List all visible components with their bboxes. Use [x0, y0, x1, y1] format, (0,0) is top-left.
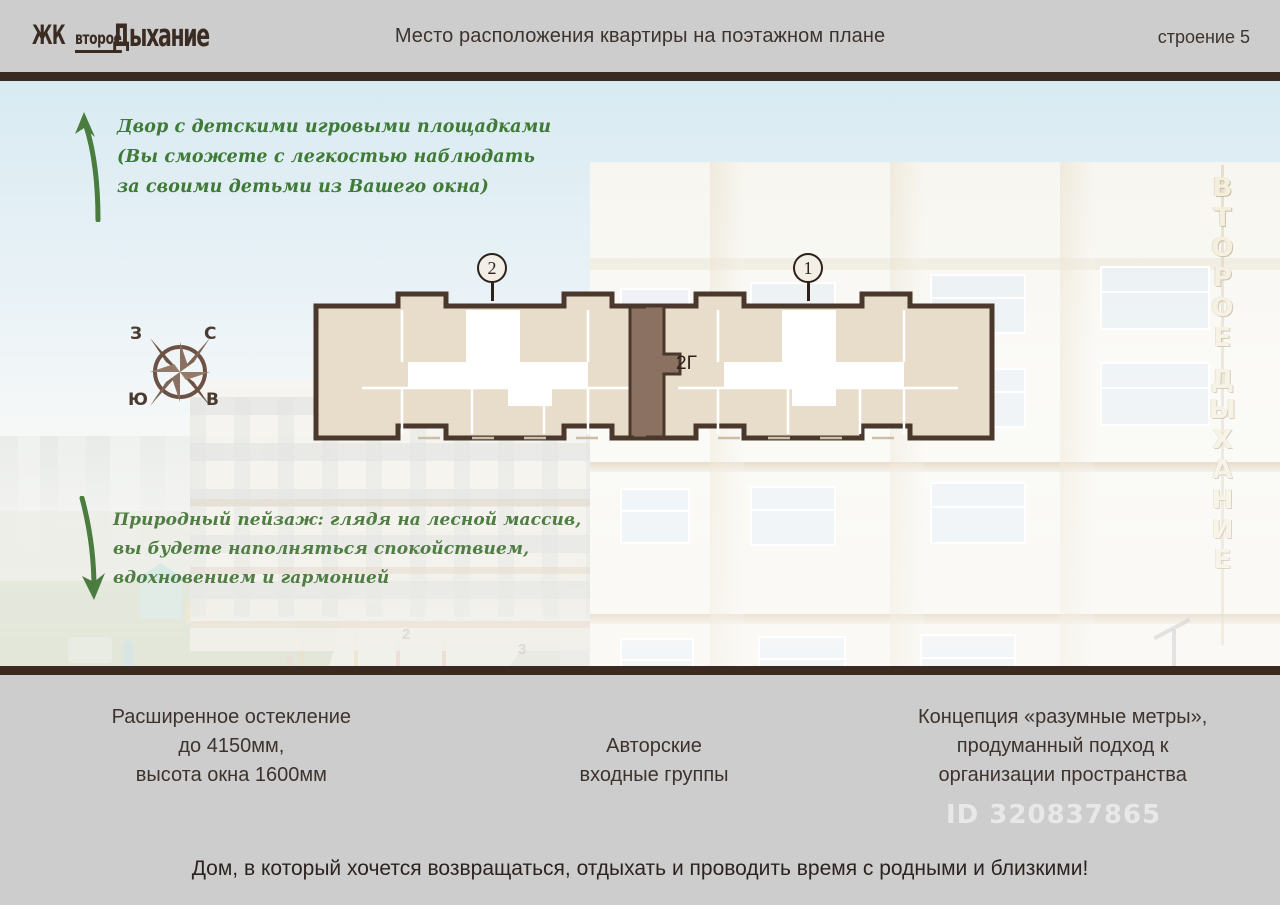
header-bar: ЖК второе Дыхание Место расположения ква…	[0, 0, 1280, 72]
facade-window	[1100, 266, 1210, 330]
divider-top	[0, 72, 1280, 81]
facade-window	[930, 482, 1026, 544]
marker-stem	[807, 282, 810, 301]
compass-label-north: С	[204, 324, 216, 344]
facade-window	[620, 488, 690, 544]
building-vertical-sign: ВТОРОЕ ДЫХАНИЕ	[1202, 169, 1242, 639]
compass-label-east: В	[206, 390, 219, 410]
playground-bench	[68, 637, 112, 663]
compass-label-south: Ю	[128, 390, 148, 410]
street-lamp-pole	[1172, 629, 1176, 666]
photo-entrance-number-2: 2	[402, 626, 410, 643]
facade-window	[758, 636, 846, 666]
entrance-marker-2[interactable]: 2	[477, 253, 507, 301]
divider-bottom	[0, 666, 1280, 675]
feature-entrance-groups: Авторские входные группы	[463, 703, 846, 790]
entrance-marker-2-number: 2	[477, 253, 507, 283]
photo-entrance-number-3: 3	[518, 641, 526, 658]
balcony-band	[190, 621, 590, 628]
arrow-down-icon	[64, 496, 110, 606]
feature-glazing: Расширенное остекление до 4150мм, высота…	[0, 703, 463, 790]
arrow-up-icon	[68, 104, 114, 222]
entrance-marker-1-number: 1	[793, 253, 823, 283]
building-number: строение 5	[1158, 27, 1250, 48]
corridor-void	[408, 362, 588, 388]
entrance-marker-1[interactable]: 1	[793, 253, 823, 301]
page-title: Место расположения квартиры на поэтажном…	[0, 25, 1280, 48]
facade-window	[620, 638, 694, 666]
poster-root: ЖК второе Дыхание Место расположения ква…	[0, 0, 1280, 905]
person-figure	[124, 641, 133, 666]
facade-window	[750, 486, 836, 546]
unit-label-2g: 2Г	[676, 353, 697, 375]
facade-window	[920, 634, 1016, 666]
facade-window	[1100, 362, 1210, 426]
building-sign-line-2: ДЫХАНИЕ	[1210, 365, 1235, 575]
cornice-band	[590, 462, 1280, 472]
facade-pilaster	[1060, 162, 1094, 666]
feature-list: Расширенное остекление до 4150мм, высота…	[0, 703, 1280, 790]
person-figure	[286, 656, 294, 666]
floor-plan	[312, 288, 996, 448]
balcony-band	[190, 499, 590, 506]
compass-label-west: З	[130, 324, 142, 344]
annotation-nature: Природный пейзаж: глядя на лесной массив…	[113, 506, 581, 594]
cornice-band	[590, 614, 1280, 624]
compass-rose: З С Ю В	[128, 318, 232, 422]
marker-stem	[491, 282, 494, 301]
annotation-courtyard: Двор с детскими игровыми площадками (Вы …	[117, 112, 551, 202]
building-sign-line-1: ВТОРОЕ	[1210, 173, 1235, 353]
feature-smart-meters: Концепция «разумные метры», продуманный …	[845, 703, 1280, 790]
footer-tagline: Дом, в который хочется возвращаться, отд…	[0, 857, 1280, 881]
